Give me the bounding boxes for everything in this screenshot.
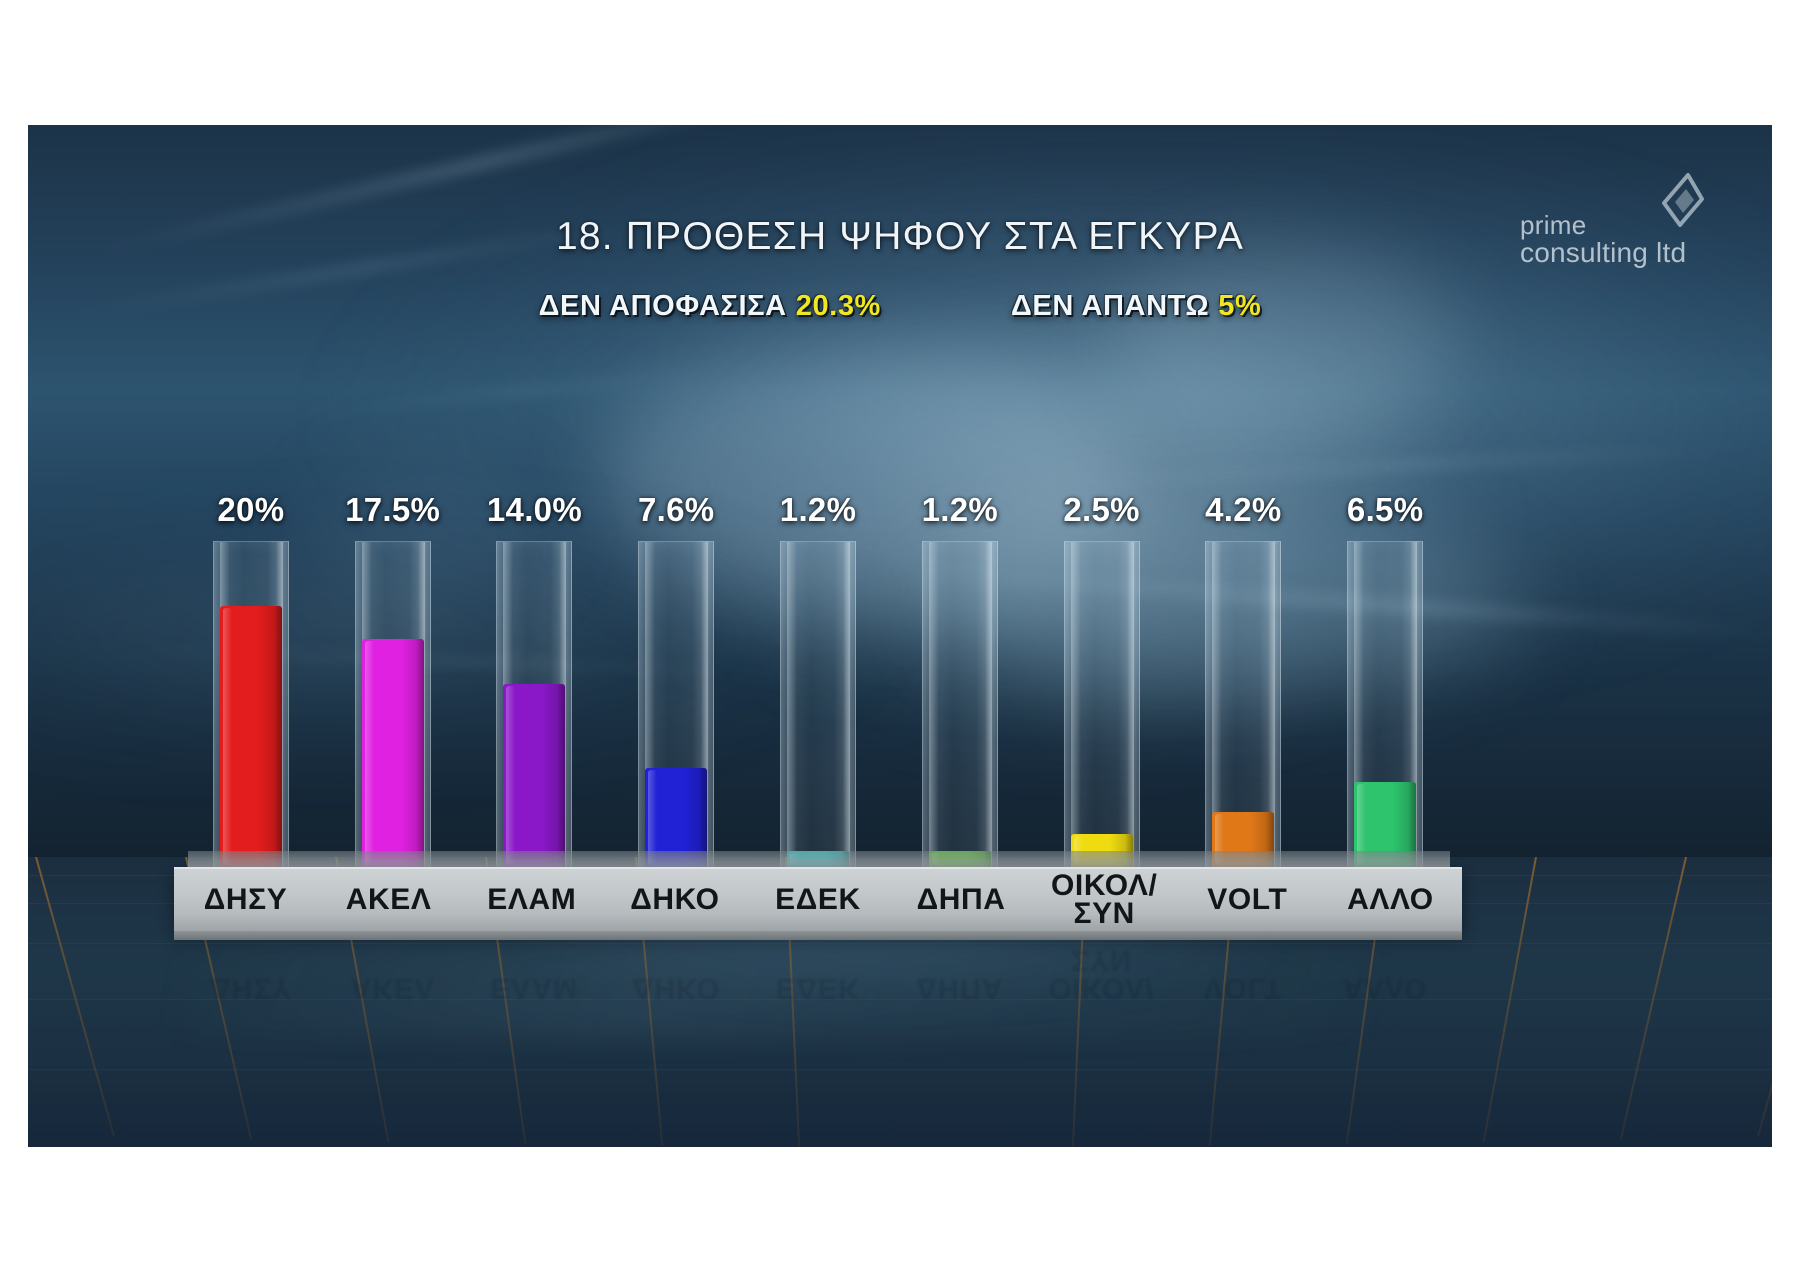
subtitle-annotations: ΔΕΝ ΑΠΟΦΑΣΙΣΑ20.3%ΔΕΝ ΑΠΑΝΤΩ5% [28,290,1772,323]
category-label-line-1: ΑΛΛΟ [1347,883,1434,916]
bar-fill [362,639,424,867]
bar-value-label: 6.5% [1314,491,1456,529]
bar-value-label: 14.0% [464,491,606,529]
category-label-reflection: ΟΙΚΟΛ/ΣΥΝ [1031,931,1173,1001]
page-title: 18. ΠΡΟΘΕΣΗ ΨΗΦΟΥ ΣΤΑ ΕΓΚΥΡΑ [28,215,1772,259]
screenshot-frame: ΔΗΣΥΑΚΕΛΕΛΑΜΔΗΚΟΕΔΕΚΔΗΠΑΟΙΚΟΛ/ΣΥΝVOLTΑΛΛ… [0,0,1800,1272]
category-label-line-1: ΑΚΕΛ [346,883,432,916]
category-label-reflection: ΕΔΕΚ [747,931,889,1001]
category-label--: ΕΔΕΚ [746,886,889,915]
category-label--: ΔΗΚΟ [603,886,746,915]
floor-grid-line [1757,857,1772,1137]
bar-value-label: 17.5% [322,491,464,529]
category-label-line-1: VOLT [1207,883,1287,916]
bar-value-label: 7.6% [605,491,747,529]
category-label-reflection: VOLT [1172,931,1314,1001]
bar-value-label: 2.5% [1031,491,1173,529]
category-label-line-2: ΣΥΝ [1033,900,1176,929]
bar-highlight [365,641,374,865]
bar-value-label: 4.2% [1172,491,1314,529]
background-blob-4 [1109,248,1458,452]
platform-front-edge [174,931,1462,940]
bar-tube [922,541,998,867]
bar-column: 1.2% [889,455,1031,867]
annotation-2: ΔΕΝ ΑΠΑΝΤΩ5% [1011,290,1261,323]
bar-value-label: 1.2% [747,491,889,529]
bar-column: 4.2% [1172,455,1314,867]
category-label-reflection: ΔΗΠΑ [889,931,1031,1001]
category-label--: ΔΗΠΑ [890,886,1033,915]
bar-fill [220,606,282,867]
category-label--: ΑΛΛΟ [1319,886,1462,915]
category-label-reflection: ΔΗΣΥ [180,931,322,1001]
floor-grid-line [35,857,115,1137]
category-label-line-1: ΕΛΑΜ [487,883,576,916]
category-label-line-1: ΕΔΕΚ [775,883,861,916]
bar-column: 17.5% [322,455,464,867]
category-label--: ΕΛΑΜ [460,886,603,915]
bar-fill [503,684,565,867]
annotation-label: ΔΕΝ ΑΠΑΝΤΩ [1011,290,1209,322]
category-label-reflection: ΑΚΕΛ [322,931,464,1001]
annotation-value: 5% [1218,290,1261,322]
broadcast-graphic-stage: ΔΗΣΥΑΚΕΛΕΛΑΜΔΗΚΟΕΔΕΚΔΗΠΑΟΙΚΟΛ/ΣΥΝVOLTΑΛΛ… [28,125,1772,1147]
bar-tube [1064,541,1140,867]
annotation-value: 20.3% [796,290,881,322]
bar-highlight [506,686,515,865]
annotation-label: ΔΕΝ ΑΠΟΦΑΣΙΣΑ [539,290,787,322]
bar-column: 14.0% [464,455,606,867]
category-label--: ΔΗΣΥ [174,886,317,915]
category-label-reflection: ΔΗΚΟ [605,931,747,1001]
category-label--: ΟΙΚΟΛ/ΣΥΝ [1033,872,1176,929]
bar-value-label: 1.2% [889,491,1031,529]
category-label-line-1: ΔΗΠΑ [917,883,1006,916]
bar-column: 1.2% [747,455,889,867]
category-platform: ΔΗΣΥΑΚΕΛΕΛΑΜΔΗΚΟΕΔΕΚΔΗΠΑΟΙΚΟΛ/ΣΥΝVOLTΑΛΛ… [174,867,1462,931]
bar-column: 7.6% [605,455,747,867]
label-reflections: ΔΗΣΥΑΚΕΛΕΛΑΜΔΗΚΟΕΔΕΚΔΗΠΑΟΙΚΟΛ/ΣΥΝVOLTΑΛΛ… [180,931,1456,1001]
bar-shadow [274,606,282,867]
bar-column: 20% [180,455,322,867]
bar-chart: 20%17.5%14.0%7.6%1.2%1.2%2.5%4.2%6.5% [180,455,1456,867]
bar-value-label: 20% [180,491,322,529]
floor-grid-horizontal [28,1069,1772,1070]
category-label-line-1: ΔΗΣΥ [204,883,288,916]
bar-highlight [223,608,232,865]
category-label-volt: VOLT [1176,886,1319,915]
bar-column: 2.5% [1031,455,1173,867]
bar-shadow [557,684,565,867]
bar-column: 6.5% [1314,455,1456,867]
bar-tube [780,541,856,867]
category-label--: ΑΚΕΛ [317,886,460,915]
annotation-1: ΔΕΝ ΑΠΟΦΑΣΙΣΑ20.3% [539,290,881,323]
category-label-line-1: ΔΗΚΟ [630,883,719,916]
category-label-reflection: ΕΛΑΜ [464,931,606,1001]
category-label-reflection: ΑΛΛΟ [1314,931,1456,1001]
bar-shadow [416,639,424,867]
